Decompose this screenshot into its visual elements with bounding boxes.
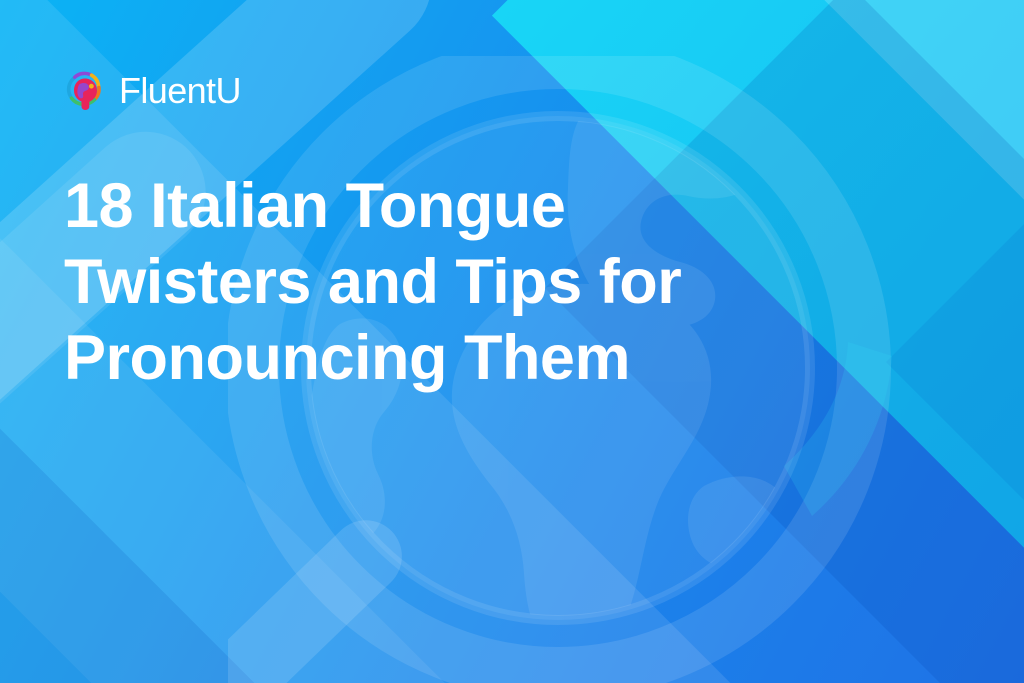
fluentu-logo[interactable]: FluentU [64, 69, 241, 113]
background-band-dark-bottom-right-2 [886, 150, 1024, 683]
brand-wordmark: FluentU [119, 73, 241, 109]
banner-canvas: FluentU 18 Italian Tongue Twisters and T… [0, 0, 1024, 683]
headline-line-3: Pronouncing Them [64, 320, 894, 396]
globe-magnifier-icon [64, 69, 106, 113]
headline-line-1: 18 Italian Tongue [64, 168, 894, 244]
headline-line-2: Twisters and Tips for [64, 244, 894, 320]
page-title: 18 Italian Tongue Twisters and Tips for … [64, 168, 894, 396]
